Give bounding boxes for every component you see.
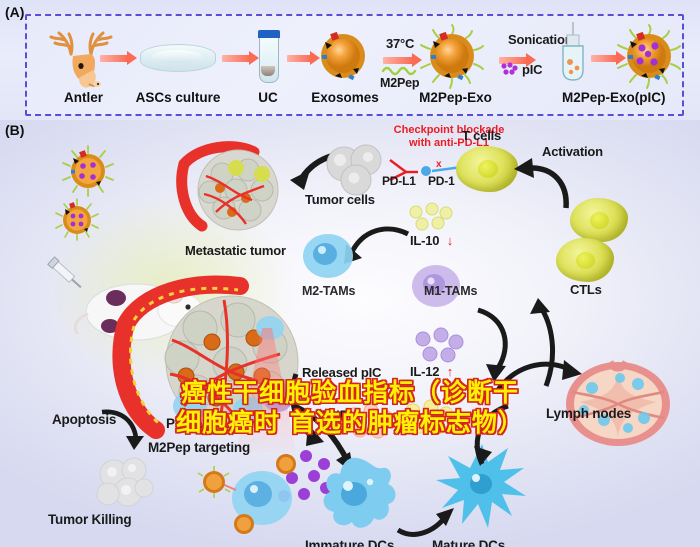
ctls-label: CTLs <box>570 282 602 297</box>
free-exosome-icon-1 <box>62 144 114 196</box>
pd-1-label: PD-1 <box>428 174 455 188</box>
petri-dish-lid <box>152 50 202 63</box>
metastatic-tumor-icon <box>176 142 296 238</box>
tnf-alpha-name: TNF-α <box>322 408 360 423</box>
pic-dots-icon <box>500 62 518 76</box>
tumor-cells-label: Tumor cells <box>305 192 375 207</box>
arrow-apoptosis <box>100 408 148 452</box>
il-12-cytokine: IL-12 ↑ <box>410 364 453 379</box>
tumor-killing-label: Tumor Killing <box>48 512 131 527</box>
loaded-exosome-icon <box>615 22 683 90</box>
m2-tam-cell-icon <box>298 228 358 282</box>
process-arrow-4 <box>383 57 413 64</box>
m2pep-annotation: M2Pep <box>380 76 419 90</box>
arrow-maturedc-to-lymph <box>456 394 534 470</box>
arrow-activation <box>506 154 586 214</box>
sonicator-icon <box>556 22 590 84</box>
panel-a-label-uc: UC <box>243 90 293 105</box>
pd-l1-label: PD-L1 <box>382 174 416 188</box>
process-arrow-1 <box>100 55 128 62</box>
metastatic-tumor-label: Metastatic tumor <box>185 243 286 258</box>
il-6-name: IL-6 <box>396 408 419 423</box>
immature-dcs-label: Immature DCs <box>305 538 394 547</box>
tube-cap-icon <box>258 30 280 38</box>
panel-a-label-m2pepexopic: M2Pep-Exo(pIC) <box>562 90 700 105</box>
panel-b-tag: (B) <box>5 122 24 138</box>
il-10-cytokine: IL-10 ↓ <box>410 233 453 248</box>
il-12-arrow: ↑ <box>447 364 453 379</box>
peptide-exosome-icon <box>418 22 486 90</box>
il-6-cytokine: IL-6 ↑ <box>396 408 434 423</box>
panel-a: (A) Antler ASC <box>0 0 700 120</box>
free-exosome-icon-2 <box>56 198 98 240</box>
panel-a-tag: (A) <box>5 4 24 20</box>
il-6-arrow: ↑ <box>428 408 435 423</box>
t-cell-nucleus <box>478 160 498 178</box>
process-arrow-6 <box>591 55 617 62</box>
ctl-nucleus-2 <box>576 252 595 269</box>
tube-pellet <box>261 66 275 76</box>
process-arrow-3 <box>287 55 311 62</box>
dying-tumor-cell-icon <box>88 450 158 516</box>
tnf-alpha-cytokine: TNF-α ↑ <box>322 408 375 423</box>
temperature-annotation: 37°C <box>386 36 414 51</box>
mature-dcs-label: Mature DCs <box>432 538 505 547</box>
panel-b: (B) <box>0 120 700 547</box>
exosome-icon <box>315 28 371 84</box>
primary-tumor-label: Primary tumor <box>166 416 256 431</box>
process-arrow-2 <box>222 55 250 62</box>
m1-tams-label: M1-TAMs <box>424 284 477 298</box>
pic-annotation: pIC <box>522 62 542 77</box>
ctl-nucleus-1 <box>590 212 609 229</box>
checkpoint-blockade-annotation: Checkpoint blockade with anti-PD-L1 <box>374 124 524 149</box>
panel-a-label-antler: Antler <box>36 90 131 105</box>
centrifuge-tube-icon <box>259 38 279 83</box>
checkpoint-line1: Checkpoint blockade <box>374 124 524 137</box>
svg-text:x: x <box>436 159 442 170</box>
m2pep-squiggle-icon <box>382 64 418 76</box>
il-12-name: IL-12 <box>410 364 439 379</box>
m2pep-targeting-label: M2Pep targeting <box>148 440 250 455</box>
immature-dc-icon <box>312 450 402 540</box>
lymph-nodes-label: Lymph nodes <box>546 406 631 421</box>
checkpoint-line2: with anti-PD-L1 <box>374 137 524 150</box>
figure-canvas: (A) Antler ASC <box>0 0 700 547</box>
t-cells-label: T cells <box>462 128 501 143</box>
panel-a-label-m2pepexo: M2Pep-Exo <box>408 90 503 105</box>
panel-a-label-ascs: ASCs culture <box>128 90 228 105</box>
il12-dots-icon <box>414 330 464 364</box>
il-10-arrow: ↓ <box>447 233 453 248</box>
panel-a-label-exosomes: Exosomes <box>305 90 385 105</box>
tnf-alpha-arrow: ↑ <box>369 408 376 423</box>
